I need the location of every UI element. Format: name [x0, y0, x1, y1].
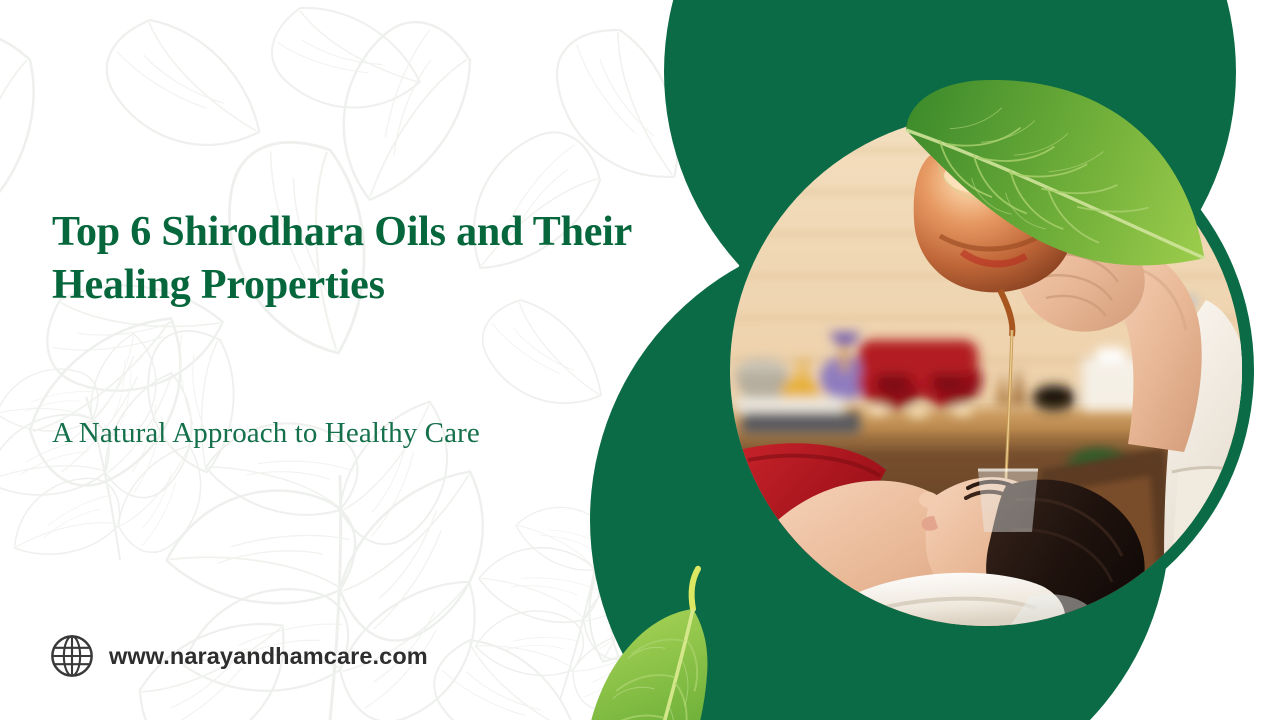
text-column: Top 6 Shirodhara Oils and Their Healing … — [52, 0, 732, 720]
leaf-photo-top — [896, 12, 1214, 351]
website-url[interactable]: www.narayandhamcare.com — [109, 643, 428, 670]
poster-canvas: Top 6 Shirodhara Oils and Their Healing … — [0, 0, 1280, 720]
website-row[interactable]: www.narayandhamcare.com — [49, 633, 428, 679]
shirodhara-photo — [730, 114, 1266, 634]
globe-icon — [49, 633, 95, 679]
page-subtitle: A Natural Approach to Healthy Care — [52, 415, 692, 453]
page-title: Top 6 Shirodhara Oils and Their Healing … — [52, 206, 732, 313]
